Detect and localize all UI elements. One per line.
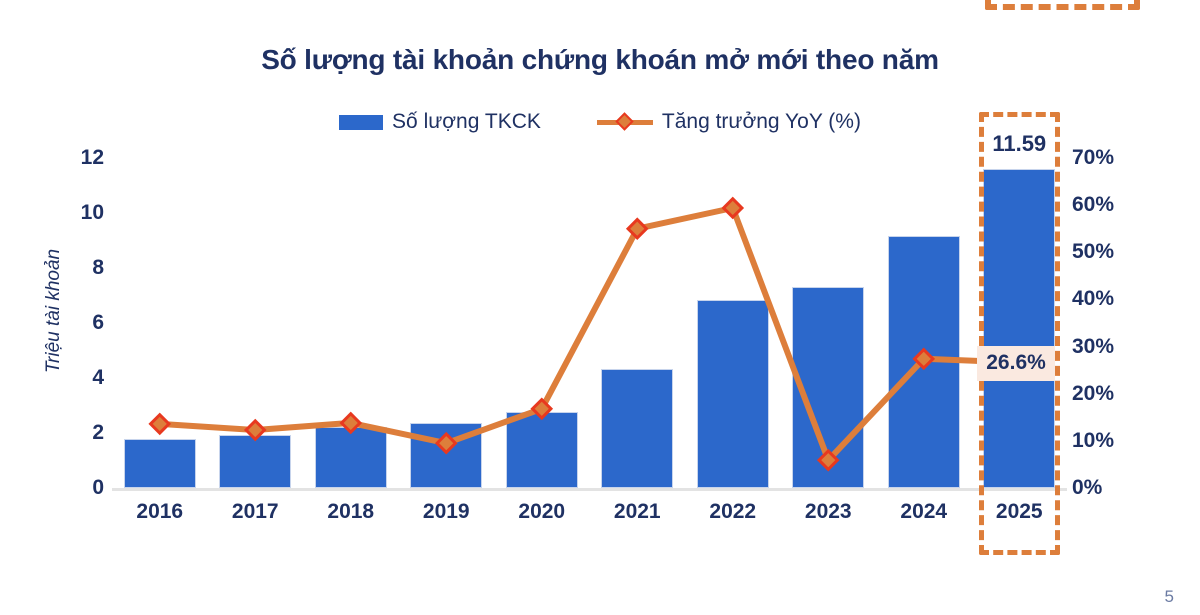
bar-2024[interactable] — [888, 236, 960, 488]
line-value-label-2025: 26.6% — [977, 346, 1055, 381]
y-axis-tick-right: 20% — [1072, 382, 1144, 406]
y-axis-tick-left: 0 — [58, 476, 104, 500]
slide-canvas: Số lượng tài khoản chứng khoán mở mới th… — [0, 0, 1200, 615]
y-axis-tick-left: 4 — [58, 366, 104, 390]
bar-2019[interactable] — [410, 423, 482, 488]
bar-2020[interactable] — [506, 412, 578, 488]
y-axis-tick-right: 0% — [1072, 476, 1144, 500]
bar-2022[interactable] — [697, 300, 769, 488]
bar-value-label-2025: 11.59 — [964, 131, 1074, 157]
line-marker-2021[interactable] — [628, 220, 646, 238]
y-axis-tick-right: 40% — [1072, 287, 1144, 311]
highlight-box-2025 — [979, 112, 1061, 555]
line-marker-2022[interactable] — [724, 199, 742, 217]
bar-2021[interactable] — [601, 369, 673, 488]
y-axis-tick-right: 30% — [1072, 335, 1144, 359]
y-axis-tick-right: 50% — [1072, 240, 1144, 264]
y-axis-tick-left: 8 — [58, 256, 104, 280]
chart-plot-area: Triệu tài khoản 0 2 4 6 8 10 12 0% 10% 2… — [0, 0, 1200, 615]
y-axis-tick-right: 10% — [1072, 429, 1144, 453]
bar-2018[interactable] — [315, 427, 387, 488]
line-marker-2016[interactable] — [151, 415, 169, 433]
y-axis-tick-left: 10 — [58, 201, 104, 225]
y-axis-tick-left: 12 — [58, 146, 104, 170]
y-axis-tick-right: 70% — [1072, 146, 1144, 170]
bar-2017[interactable] — [219, 435, 291, 488]
bar-2023[interactable] — [792, 287, 864, 488]
x-axis-baseline — [112, 488, 1067, 491]
y-axis-tick-right: 60% — [1072, 193, 1144, 217]
page-number: 5 — [1165, 587, 1174, 607]
y-axis-tick-left: 6 — [58, 311, 104, 335]
bar-2016[interactable] — [124, 439, 196, 488]
y-axis-tick-left: 2 — [58, 421, 104, 445]
